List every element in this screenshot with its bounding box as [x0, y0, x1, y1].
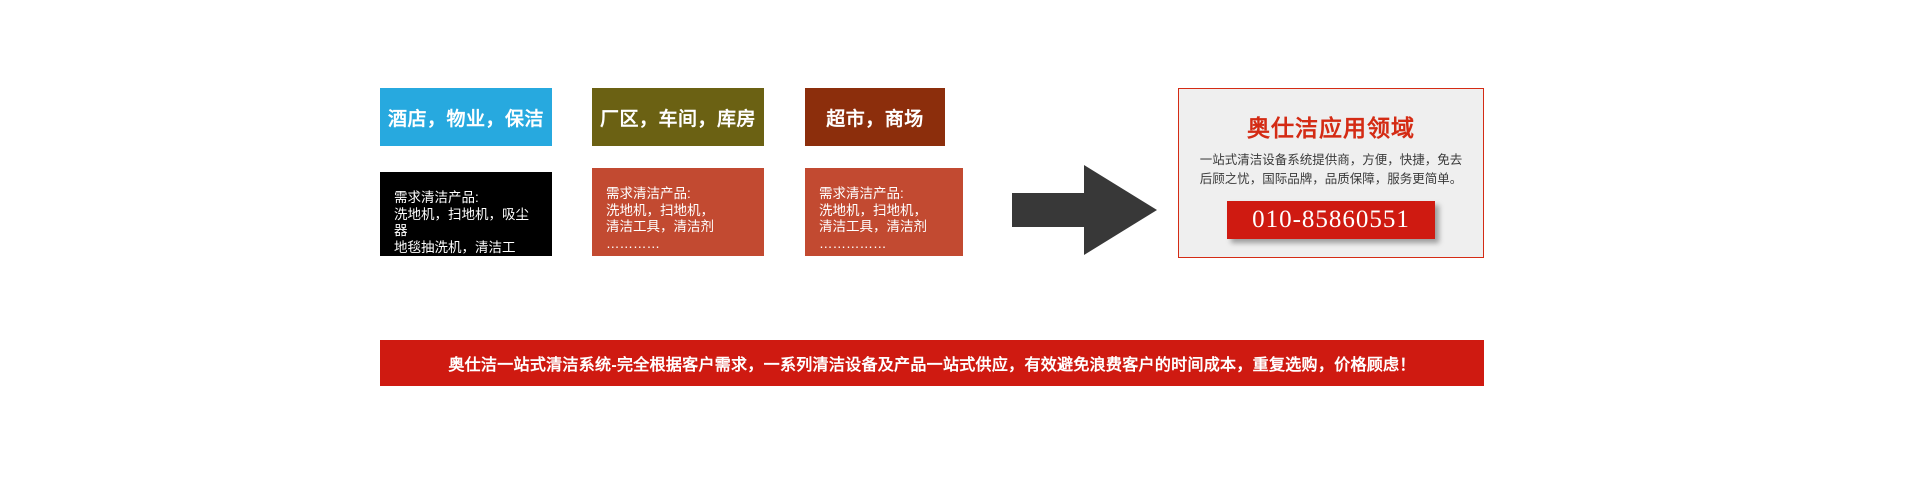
segment-body-supermarket: 需求清洁产品: 洗地机，扫地机， 清洁工具，清洁剂 …………… [805, 168, 963, 256]
segment-body-factory: 需求清洁产品: 洗地机，扫地机， 清洁工具，清洁剂 ………… [592, 168, 764, 256]
panel-title: 奥仕洁应用领域 [1179, 109, 1483, 143]
segment-header-hotel: 酒店，物业，保洁 [380, 88, 552, 146]
segment-header-label: 厂区，车间，库房 [600, 104, 756, 131]
promo-banner-canvas: 酒店，物业，保洁 需求清洁产品: 洗地机，扫地机，吸尘器 地毯抽洗机，清洁工具，… [0, 0, 1920, 500]
phone-number-button[interactable]: 010-85860551 [1227, 201, 1435, 239]
segment-header-factory: 厂区，车间，库房 [592, 88, 764, 146]
arrow-right-icon [1012, 160, 1157, 260]
segment-body-hotel: 需求清洁产品: 洗地机，扫地机，吸尘器 地毯抽洗机，清洁工具， 清洁剂………… [380, 172, 552, 256]
application-areas-panel: 奥仕洁应用领域 一站式清洁设备系统提供商，方便，快捷，免去 后顾之忧，国际品牌，… [1178, 88, 1484, 258]
segment-header-label: 酒店，物业，保洁 [388, 104, 544, 131]
segment-header-label: 超市，商场 [826, 104, 924, 131]
panel-description: 一站式清洁设备系统提供商，方便，快捷，免去 后顾之忧，国际品牌，品质保障，服务更… [1179, 151, 1483, 189]
bottom-slogan-banner: 奥仕洁一站式清洁系统-完全根据客户需求，一系列清洁设备及产品一站式供应，有效避免… [380, 340, 1484, 386]
segment-header-supermarket: 超市，商场 [805, 88, 945, 146]
